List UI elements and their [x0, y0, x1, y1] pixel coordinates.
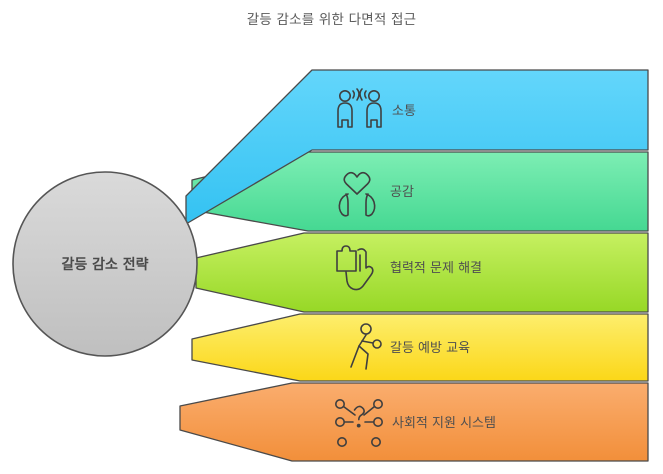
branch-prevention-education[interactable]: 갈등 예방 교육	[192, 314, 648, 381]
diagram-canvas: 사회적 지원 시스템 갈등 예방 교육 협력적 문제 해결	[0, 0, 663, 474]
hub-label: 갈등 감소 전략	[61, 256, 148, 273]
diagram-root: 갈등 감소를 위한 다면적 접근	[0, 0, 663, 474]
branch-label-prevention-education: 갈등 예방 교육	[390, 341, 470, 356]
branch-social-support[interactable]: 사회적 지원 시스템	[180, 383, 648, 461]
hub-node[interactable]: 갈등 감소 전략	[13, 172, 197, 356]
branch-label-empathy: 공감	[390, 185, 414, 200]
branch-label-problem-solving: 협력적 문제 해결	[390, 261, 482, 276]
branch-label-social-support: 사회적 지원 시스템	[392, 416, 496, 431]
branch-label-communication: 소통	[392, 104, 416, 119]
branch-problem-solving[interactable]: 협력적 문제 해결	[196, 233, 648, 312]
